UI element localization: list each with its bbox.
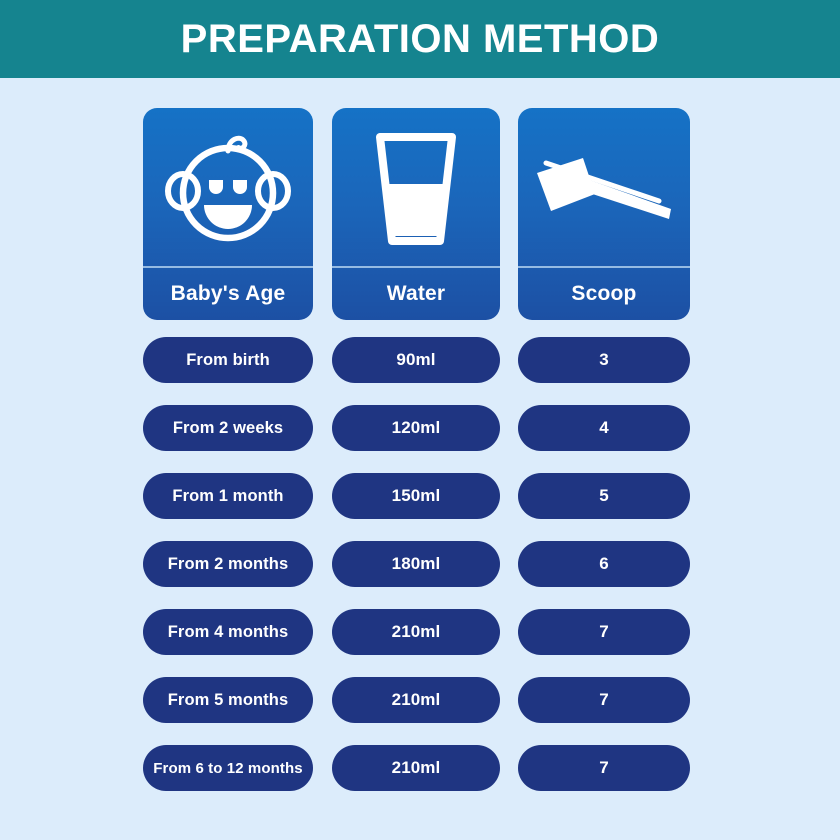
column-card-divider: [143, 266, 313, 268]
table-row: From 2 weeks 120ml 4: [143, 405, 690, 451]
cell-age-text: From 1 month: [172, 487, 283, 506]
cell-scoops: 7: [518, 745, 690, 791]
cell-age: From 2 weeks: [143, 405, 313, 451]
preparation-method-table: Baby's Age Water: [143, 108, 690, 791]
cell-age: From 1 month: [143, 473, 313, 519]
cell-water-text: 210ml: [392, 622, 441, 642]
water-glass-icon-area: [332, 108, 500, 266]
cell-scoops: 6: [518, 541, 690, 587]
cell-water: 210ml: [332, 745, 500, 791]
cell-scoops-text: 5: [599, 486, 609, 506]
column-label-area-babys-age: Baby's Age: [143, 268, 313, 320]
cell-age: From 6 to 12 months: [143, 745, 313, 791]
data-rows: From birth 90ml 3 From 2 weeks 120ml 4 F…: [143, 337, 690, 791]
column-headers: Baby's Age Water: [143, 108, 690, 320]
cell-scoops: 3: [518, 337, 690, 383]
cell-water: 180ml: [332, 541, 500, 587]
table-row: From 1 month 150ml 5: [143, 473, 690, 519]
cell-age: From 2 months: [143, 541, 313, 587]
cell-age: From 5 months: [143, 677, 313, 723]
column-label-water: Water: [387, 282, 446, 306]
cell-water-text: 180ml: [392, 554, 441, 574]
cell-water-text: 150ml: [392, 486, 441, 506]
cell-age-text: From birth: [186, 351, 270, 370]
cell-water-text: 90ml: [396, 350, 435, 370]
column-label-area-water: Water: [332, 268, 500, 320]
cell-water: 90ml: [332, 337, 500, 383]
scoop-icon: [529, 132, 679, 242]
table-row: From 5 months 210ml 7: [143, 677, 690, 723]
cell-age-text: From 6 to 12 months: [153, 760, 302, 777]
table-row: From birth 90ml 3: [143, 337, 690, 383]
column-label-area-scoop: Scoop: [518, 268, 690, 320]
column-header-card-scoop: Scoop: [518, 108, 690, 320]
baby-face-icon: [164, 125, 292, 249]
column-card-divider: [518, 266, 690, 268]
page-title: PREPARATION METHOD: [181, 19, 660, 59]
header-banner: PREPARATION METHOD: [0, 0, 840, 78]
cell-water: 210ml: [332, 677, 500, 723]
column-header-card-water: Water: [332, 108, 500, 320]
baby-face-icon-area: [143, 108, 313, 266]
column-card-divider: [332, 266, 500, 268]
cell-scoops-text: 6: [599, 554, 609, 574]
cell-age-text: From 4 months: [168, 623, 288, 642]
water-glass-icon: [368, 126, 464, 248]
cell-water: 150ml: [332, 473, 500, 519]
table-row: From 4 months 210ml 7: [143, 609, 690, 655]
cell-water-text: 210ml: [392, 690, 441, 710]
cell-scoops-text: 7: [599, 690, 609, 710]
cell-water-text: 120ml: [392, 418, 441, 438]
column-header-card-babys-age: Baby's Age: [143, 108, 313, 320]
column-label-babys-age: Baby's Age: [171, 282, 286, 306]
cell-scoops-text: 7: [599, 622, 609, 642]
table-row: From 2 months 180ml 6: [143, 541, 690, 587]
cell-scoops: 4: [518, 405, 690, 451]
cell-water: 120ml: [332, 405, 500, 451]
column-label-scoop: Scoop: [571, 282, 636, 306]
cell-scoops: 5: [518, 473, 690, 519]
cell-scoops-text: 3: [599, 350, 609, 370]
cell-scoops-text: 4: [599, 418, 609, 438]
cell-scoops: 7: [518, 677, 690, 723]
cell-age: From birth: [143, 337, 313, 383]
cell-water-text: 210ml: [392, 758, 441, 778]
cell-water: 210ml: [332, 609, 500, 655]
table-row: From 6 to 12 months 210ml 7: [143, 745, 690, 791]
cell-age-text: From 2 months: [168, 555, 288, 574]
cell-scoops: 7: [518, 609, 690, 655]
scoop-icon-area: [518, 108, 690, 266]
cell-scoops-text: 7: [599, 758, 609, 778]
cell-age-text: From 5 months: [168, 691, 288, 710]
cell-age: From 4 months: [143, 609, 313, 655]
cell-age-text: From 2 weeks: [173, 419, 283, 438]
